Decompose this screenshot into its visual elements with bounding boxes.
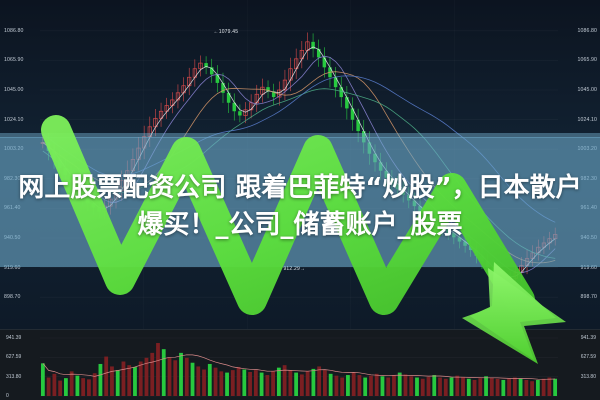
- screenshot-stage: 1086.801065.901045.001024.101003.20982.3…: [0, 0, 600, 400]
- headline-line-2: 爆买！_公司_储蓄账户_股票: [0, 207, 600, 244]
- headline-overlay: 网上股票配资公司 跟着巴菲特“炒股”，日本散户 爆买！_公司_储蓄账户_股票: [0, 170, 600, 244]
- headline-line-1: 网上股票配资公司 跟着巴菲特“炒股”，日本散户: [0, 170, 600, 207]
